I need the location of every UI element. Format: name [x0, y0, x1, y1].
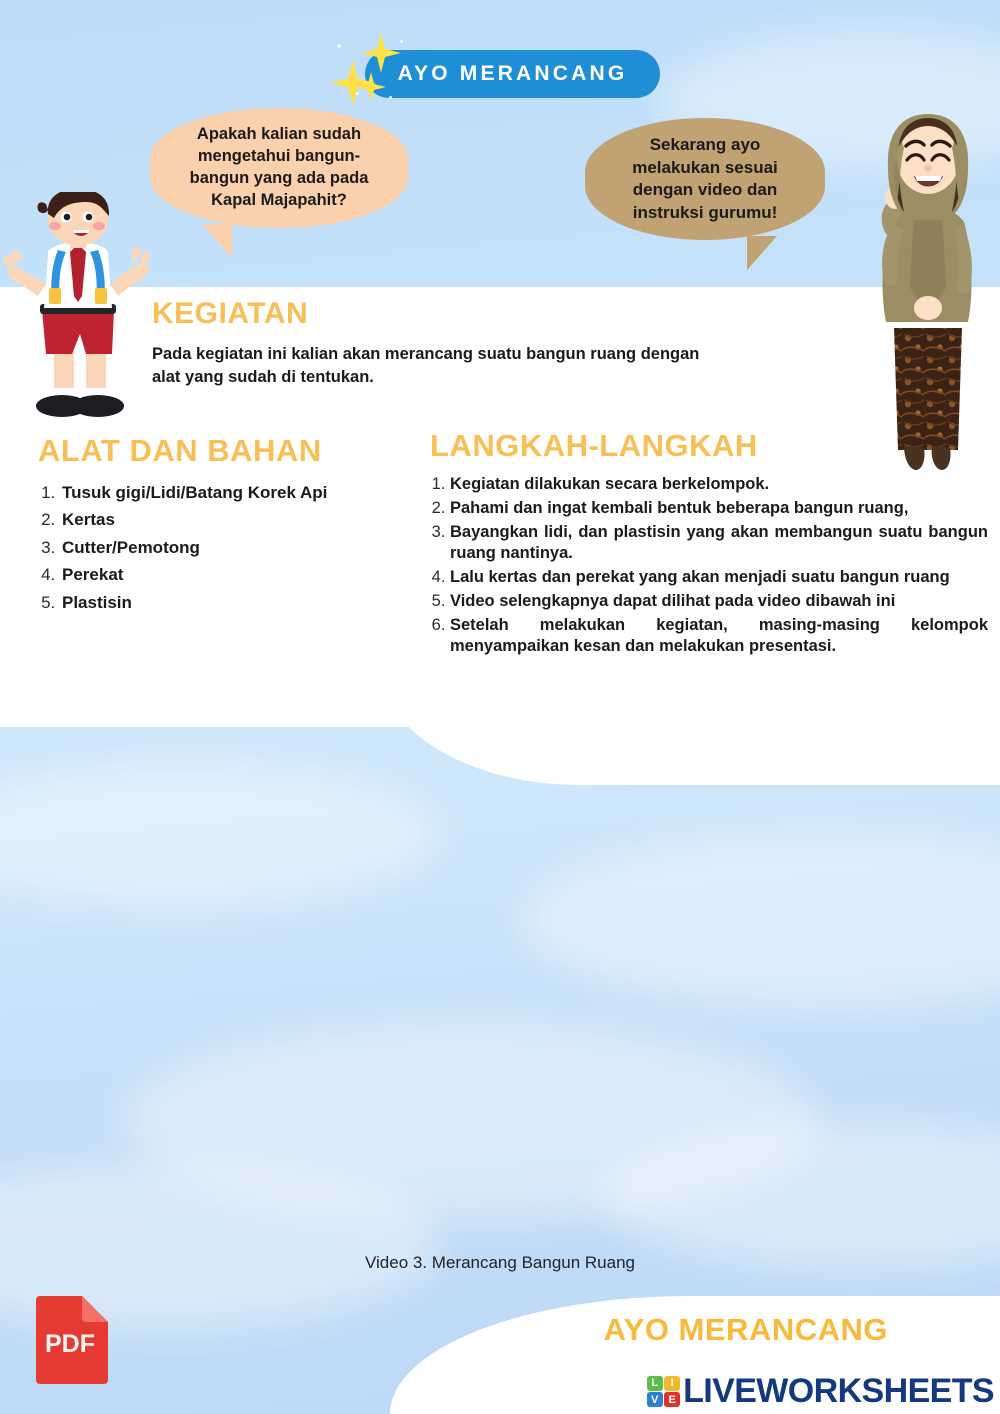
video-caption: Video 3. Merancang Bangun Ruang [0, 1253, 1000, 1273]
speech-bubble-tail [747, 236, 791, 270]
logo-tiles: L I V E [647, 1376, 681, 1408]
logo-tile-i: I [664, 1376, 680, 1391]
liveworksheets-logo[interactable]: L I V E LIVEWORKSHEETS [647, 1372, 994, 1411]
speech-bubble-tail [188, 224, 232, 258]
list-item: Kertas [60, 510, 410, 530]
list-item: Cutter/Pemotong [60, 538, 410, 558]
speech-bubble-student-text: Apakah kalian sudah mengetahui bangun-ba… [190, 125, 369, 209]
list-item: Video selengkapnya dapat dilihat pada vi… [450, 591, 988, 613]
logo-wordmark: LIVEWORKSHEETS [683, 1372, 994, 1411]
cloud-decoration [520, 830, 1000, 1010]
teacher-illustration [858, 112, 998, 484]
sparkle-dot-icon [400, 40, 403, 43]
sparkle-dot-icon [337, 44, 341, 48]
list-item: Tusuk gigi/Lidi/Batang Korek Api [60, 483, 410, 503]
sparkle-dot-icon [389, 96, 392, 99]
kegiatan-heading: KEGIATAN [152, 297, 732, 331]
worksheet-page: AYO MERANCANG Apakah kalian sudah menget… [0, 0, 1000, 1414]
footer-title: AYO MERANCANG [604, 1312, 888, 1348]
schoolboy-illustration [2, 192, 154, 420]
speech-bubble-student: Apakah kalian sudah mengetahui bangun-ba… [150, 108, 408, 228]
alat-dan-bahan-heading: ALAT DAN BAHAN [38, 433, 410, 469]
kegiatan-description: Pada kegiatan ini kalian akan merancang … [152, 343, 732, 390]
speech-bubble-teacher: Sekarang ayo melakukan sesuai dengan vid… [585, 118, 825, 240]
alat-dan-bahan-section: ALAT DAN BAHAN Tusuk gigi/Lidi/Batang Ko… [38, 433, 410, 620]
sparkle-dot-icon [356, 92, 359, 95]
list-item: Pahami dan ingat kembali bentuk beberapa… [450, 498, 988, 520]
list-item: Lalu kertas dan perekat yang akan menjad… [450, 567, 988, 589]
logo-tile-e: E [664, 1392, 680, 1407]
logo-tile-l: L [647, 1376, 663, 1391]
speech-bubble-teacher-text: Sekarang ayo melakukan sesuai dengan vid… [632, 135, 778, 222]
kegiatan-section: KEGIATAN Pada kegiatan ini kalian akan m… [152, 297, 732, 390]
list-item: Setelah melakukan kegiatan, masing-masin… [450, 615, 988, 659]
list-item: Perekat [60, 565, 410, 585]
pdf-label: PDF [45, 1330, 95, 1358]
list-item: Plastisin [60, 593, 410, 613]
list-item: Bayangkan lidi, dan plastisin yang akan … [450, 522, 988, 566]
header-banner: AYO MERANCANG [365, 50, 660, 98]
logo-tile-v: V [647, 1392, 663, 1407]
pdf-file-icon[interactable]: PDF [30, 1296, 108, 1388]
alat-dan-bahan-list: Tusuk gigi/Lidi/Batang Korek Api Kertas … [60, 483, 410, 613]
langkah-langkah-list: Kegiatan dilakukan secara berkelompok. P… [450, 474, 988, 658]
page-title: AYO MERANCANG [398, 62, 628, 86]
